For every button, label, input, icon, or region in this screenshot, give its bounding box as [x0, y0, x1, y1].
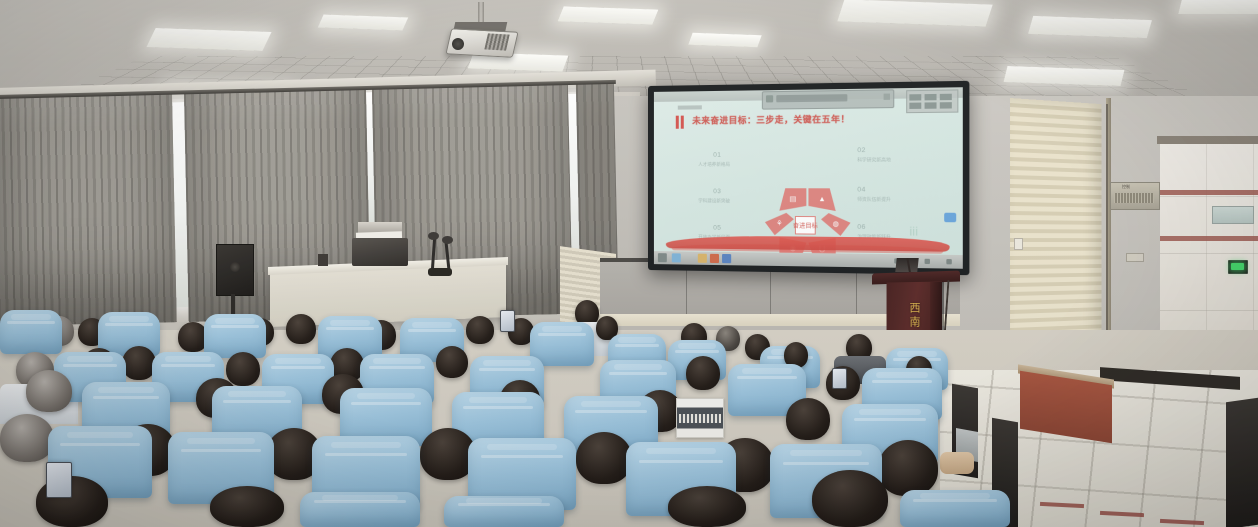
auditorium-seat[interactable]	[900, 490, 1010, 527]
light-switch[interactable]	[1014, 238, 1023, 250]
exit-light-icon	[1231, 263, 1244, 270]
globe-icon: ◍	[833, 221, 839, 228]
projector-vent	[484, 33, 509, 50]
printed-photo	[676, 398, 724, 438]
audience-head	[812, 470, 888, 527]
title-marker-icon	[676, 116, 685, 129]
book-icon: ▤	[789, 196, 796, 203]
ceiling-light-panel	[837, 0, 992, 27]
auditorium-seat[interactable]	[204, 314, 266, 358]
projector-mount-pole	[478, 2, 484, 24]
toolbar-text-field	[776, 94, 847, 102]
audience-head	[576, 432, 632, 484]
counter-device	[318, 254, 328, 266]
audience-head	[210, 486, 284, 527]
petal-segment: ⚘	[765, 213, 794, 236]
ceiling-light-panel	[1178, 0, 1258, 14]
audience-head	[436, 346, 468, 378]
conference-hall-photo: 未来奋进目标：三步走，关键在五年！ 01 人才培养新格局 03 学科建设新突破 …	[0, 0, 1258, 527]
word-icon[interactable]	[722, 254, 731, 263]
audience-head	[786, 398, 830, 440]
auditorium-seat[interactable]	[300, 492, 420, 527]
audience-head	[26, 370, 72, 412]
audience-head	[878, 440, 938, 496]
ceiling-light-panel	[146, 28, 271, 51]
ceiling-light-panel	[318, 14, 408, 30]
clock-icon[interactable]	[946, 259, 951, 264]
diagram-center-label: 奋进目标	[795, 216, 816, 235]
minimize-icon[interactable]	[909, 94, 921, 100]
corridor-window	[1212, 206, 1254, 224]
audience-head	[0, 414, 54, 462]
app-icon	[765, 95, 772, 102]
petal-segment: ◍	[821, 213, 851, 236]
close-icon[interactable]	[940, 94, 952, 100]
audience-head	[668, 486, 746, 527]
corridor-wall-stripe	[1160, 236, 1258, 241]
smartphone[interactable]	[46, 462, 72, 498]
projection-screen-frame: 未来奋进目标：三步走，关键在五年！ 01 人才培养新格局 03 学科建设新突破 …	[648, 81, 969, 275]
emergency-exit-sign	[1228, 260, 1248, 274]
slide-item-text: 人才培养新格局	[698, 162, 730, 168]
ceiling-light-panel	[558, 6, 659, 24]
microphone-head-icon	[428, 232, 439, 240]
av-equipment	[352, 238, 408, 266]
ceiling-light-panel	[1028, 16, 1152, 38]
toolbar-icon[interactable]	[940, 102, 952, 108]
slide-item-text: 科学研究新高地	[857, 157, 891, 163]
ppt-icon[interactable]	[710, 254, 719, 263]
slide-item-text: 师资队伍新提升	[857, 197, 891, 203]
browser-icon[interactable]	[672, 253, 681, 262]
people-icon: ▲	[818, 196, 825, 203]
toolbar-icon[interactable]	[925, 102, 937, 108]
audience-head	[686, 356, 720, 390]
door-header	[1157, 136, 1258, 144]
handbag	[940, 452, 974, 474]
slide-item-number: 05	[713, 225, 721, 232]
slide-badge-icon	[944, 213, 956, 223]
microphone-head-icon	[442, 236, 453, 244]
projection-screen[interactable]: 未来奋进目标：三步走，关键在五年！ 01 人才培养新格局 03 学科建设新突破 …	[654, 87, 963, 269]
audience-head	[122, 346, 156, 380]
slide-decor-bar	[677, 105, 701, 109]
wall-outlet-plate[interactable]	[1126, 253, 1144, 262]
audience-head	[286, 314, 316, 344]
auditorium-seat[interactable]	[0, 310, 62, 354]
maximize-icon[interactable]	[925, 94, 937, 100]
petal-segment: ▤	[779, 188, 806, 211]
seat-row-end-panel	[1226, 398, 1258, 527]
slide-item-text: 学科建设新突破	[698, 198, 730, 204]
slide-item-number: 04	[857, 186, 866, 193]
windows-start-icon[interactable]	[658, 253, 667, 262]
slide-title: 未来奋进目标：三步走，关键在五年！	[692, 112, 914, 127]
vent-grill-icon	[1114, 193, 1154, 203]
photo-people-row	[679, 414, 721, 422]
slide-item-number: 06	[857, 224, 866, 231]
audience-head	[466, 316, 494, 344]
corridor-wall-stripe	[1160, 190, 1258, 195]
slide-item-number: 03	[713, 188, 721, 195]
petal-segment: ▲	[808, 188, 835, 211]
ceiling-light-panel	[688, 33, 761, 47]
floating-toolbar[interactable]	[761, 89, 894, 109]
folder-icon[interactable]	[698, 254, 707, 263]
lab-icon: ⚘	[776, 220, 782, 227]
toolbar-icon[interactable]	[909, 103, 921, 109]
microphone-base	[428, 268, 452, 276]
auditorium-seat[interactable]	[444, 496, 564, 527]
slide-item-number: 01	[713, 152, 721, 159]
smartphone[interactable]	[500, 310, 515, 332]
audience-head	[226, 352, 260, 386]
ime-icon[interactable]	[925, 259, 930, 264]
slide-item-number: 02	[857, 147, 866, 154]
curtain-panel[interactable]	[0, 92, 177, 326]
projector-lens-icon	[452, 38, 464, 50]
smartphone[interactable]	[832, 368, 847, 389]
toolbar-button-icon[interactable]	[883, 94, 889, 100]
plaque-label: 控制	[1122, 184, 1130, 190]
window-controls-panel[interactable]	[906, 89, 958, 113]
speaker-cone-icon	[230, 262, 240, 272]
